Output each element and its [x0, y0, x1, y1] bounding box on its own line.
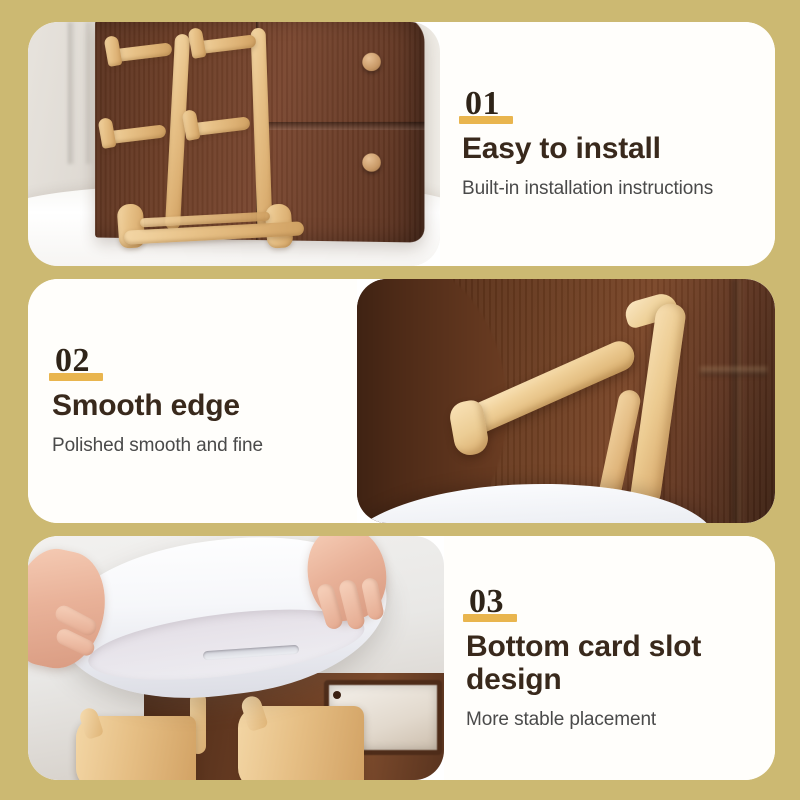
feature-subtitle: Built-in installation instructions [462, 178, 761, 201]
feature-number-badge-03: 03 [466, 585, 507, 619]
bamboo-rack [72, 694, 372, 780]
curtain-fold-icon [86, 22, 93, 164]
feature-number-badge-02: 02 [52, 344, 93, 378]
feature-number: 01 [462, 87, 503, 121]
feature-subtitle: More stable placement [466, 709, 761, 732]
feature-text-02: 02 Smooth edge Polished smooth and fine [28, 279, 357, 523]
feature-heading: Bottom card slot design [466, 630, 761, 696]
cabinet-knob-icon [362, 153, 381, 171]
bamboo-rack [114, 28, 324, 250]
rack-post [250, 28, 272, 230]
feature-number-badge-01: 01 [462, 87, 503, 121]
infographic-page: 01 Easy to install Built-in installation… [0, 0, 800, 800]
feature-number: 02 [52, 344, 93, 378]
cabinet-knob-icon [362, 53, 381, 71]
feature-number: 03 [466, 585, 507, 619]
feature-subtitle: Polished smooth and fine [52, 435, 343, 458]
feature-panel-03: 03 Bottom card slot design More stable p… [28, 536, 775, 780]
cabinet-panel-line [700, 367, 767, 376]
curtain-fold-icon [68, 22, 75, 164]
feature-text-03: 03 Bottom card slot design More stable p… [444, 536, 775, 780]
feature-photo-01 [28, 22, 440, 266]
feature-panel-02: 02 Smooth edge Polished smooth and fine [28, 279, 775, 523]
feature-text-01: 01 Easy to install Built-in installation… [440, 22, 775, 266]
feature-heading: Smooth edge [52, 389, 343, 422]
feature-heading: Easy to install [462, 132, 761, 165]
feature-photo-02 [357, 279, 775, 523]
rack-arm-hook [188, 27, 207, 59]
feature-panel-01: 01 Easy to install Built-in installation… [28, 22, 775, 266]
cabinet-panel-line [732, 279, 742, 523]
feature-photo-03 [28, 536, 444, 780]
finger [361, 577, 385, 621]
